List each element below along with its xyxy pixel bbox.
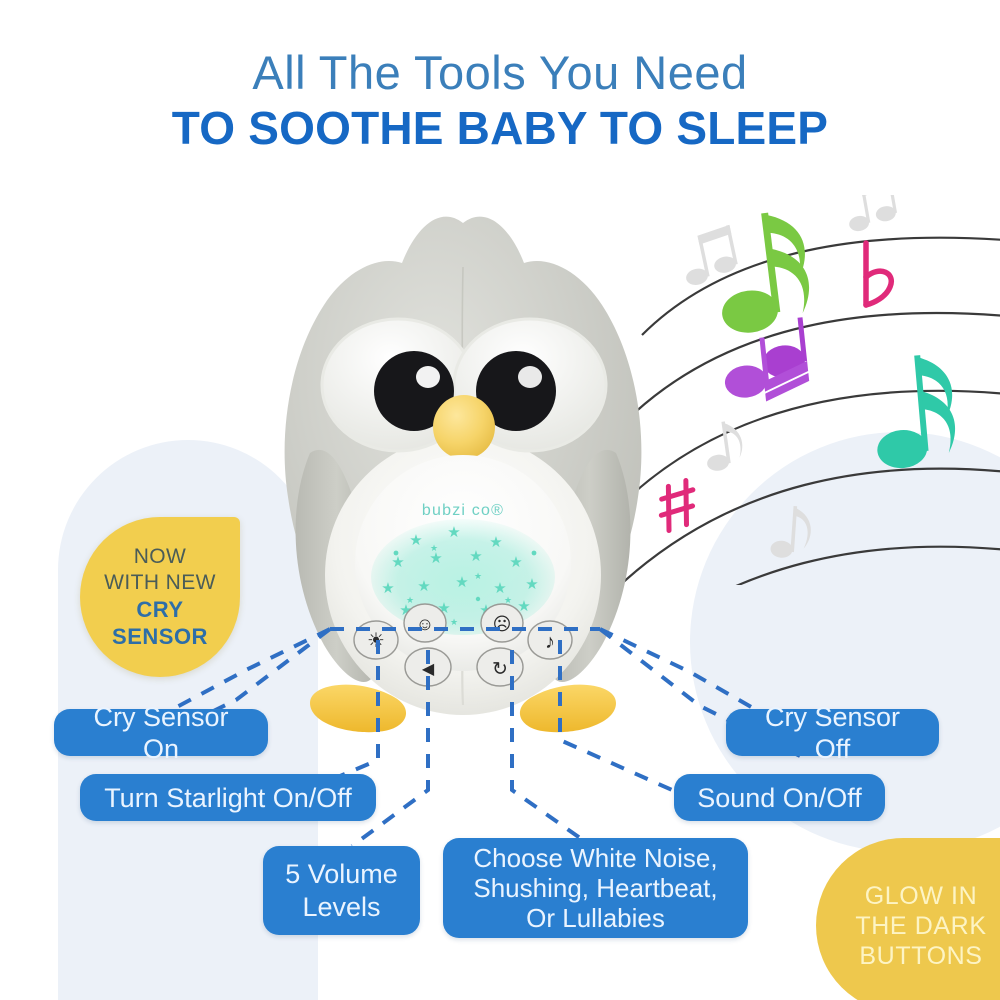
badge-line: CRY [136, 596, 183, 623]
beamed-note-purple [719, 317, 811, 405]
volume-button[interactable]: ◀ [405, 648, 451, 686]
badge-line: BUTTONS [859, 941, 982, 971]
owl-beak [433, 395, 495, 459]
page-title: All The Tools You Need TO SOOTHE BABY TO… [0, 46, 1000, 156]
svg-text:★: ★ [409, 532, 422, 549]
sound-button[interactable]: ♪ [528, 621, 572, 659]
svg-text:★: ★ [455, 574, 468, 591]
callout-label: Turn Starlight On/Off [104, 782, 352, 814]
svg-text:★: ★ [381, 580, 394, 597]
svg-text:☹: ☹ [493, 614, 512, 634]
badge-line: SENSOR [112, 623, 208, 650]
callout-label-line: Levels [285, 891, 398, 924]
owl-sleep-soother: bubzi co® ★★★ ★★★ ★★★ ★★★ ★★★ ★ ★★★ ★★ [248, 205, 678, 765]
callout-label: Sound On/Off [697, 782, 862, 814]
svg-text:◀: ◀ [422, 661, 435, 678]
badge-cry-sensor: NOW WITH NEW CRY SENSOR [80, 517, 240, 677]
callout-volume-levels[interactable]: 5 Volume Levels [263, 846, 420, 935]
svg-text:★: ★ [450, 617, 458, 627]
callout-cry-sensor-off[interactable]: Cry Sensor Off [726, 709, 939, 756]
svg-text:★: ★ [509, 554, 522, 571]
svg-text:★: ★ [469, 548, 482, 565]
svg-text:↻: ↻ [492, 659, 508, 680]
sound-mode-button[interactable]: ↻ [477, 648, 523, 686]
svg-text:★: ★ [417, 578, 430, 595]
badge-line: WITH NEW [104, 570, 216, 596]
svg-text:♪: ♪ [545, 631, 555, 653]
cry-sensor-off-button[interactable]: ☹ [481, 604, 523, 642]
callout-sound-on-off[interactable]: Sound On/Off [674, 774, 885, 821]
svg-text:★: ★ [391, 554, 404, 571]
cry-sensor-on-button[interactable]: ☺ [404, 604, 446, 642]
badge-line: THE DARK [855, 911, 986, 941]
svg-text:★: ★ [489, 534, 502, 551]
callout-label-line: Choose White Noise, [473, 843, 717, 873]
flat-symbol-pink [866, 243, 891, 305]
headline-line-2: TO SOOTHE BABY TO SLEEP [0, 100, 1000, 156]
callout-label-line: Or Lullabies [473, 903, 717, 933]
callout-cry-sensor-on[interactable]: Cry Sensor On [54, 709, 268, 756]
badge-line: GLOW IN [865, 881, 978, 911]
control-panel: bubzi co® ★★★ ★★★ ★★★ ★★★ ★★★ ★ ★★★ ★★ [354, 455, 572, 686]
svg-text:★: ★ [447, 524, 460, 541]
callout-label-line: 5 Volume [285, 858, 398, 891]
callout-turn-starlight[interactable]: Turn Starlight On/Off [80, 774, 376, 821]
svg-text:★: ★ [430, 543, 438, 553]
starlight-button[interactable]: ☀ [354, 621, 398, 659]
headline-line-1: All The Tools You Need [0, 46, 1000, 100]
callout-label-line: Shushing, Heartbeat, [473, 873, 717, 903]
brand-logo: bubzi co® [422, 502, 504, 519]
svg-text:★: ★ [525, 576, 538, 593]
callout-sound-options[interactable]: Choose White Noise, Shushing, Heartbeat,… [443, 838, 748, 938]
infographic-canvas: All The Tools You Need TO SOOTHE BABY TO… [0, 0, 1000, 1000]
badge-line: NOW [134, 544, 187, 570]
svg-text:☺: ☺ [416, 614, 434, 634]
callout-label: Cry Sensor On [72, 701, 250, 765]
badge-glow-in-the-dark: GLOW IN THE DARK BUTTONS [816, 838, 1000, 1000]
callout-label: Cry Sensor Off [744, 701, 921, 765]
svg-text:☀: ☀ [367, 630, 385, 652]
svg-text:★: ★ [406, 595, 414, 605]
svg-text:★: ★ [474, 571, 482, 581]
eighth-note-teal [869, 353, 958, 471]
